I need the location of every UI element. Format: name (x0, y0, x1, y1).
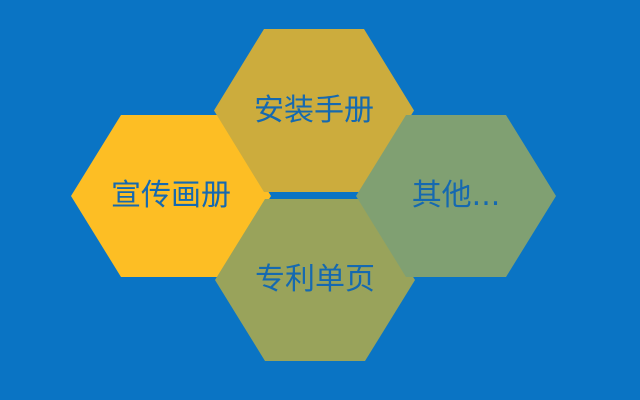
hexagon-label-zhuanli-danye: 专利单页 (255, 265, 375, 295)
hexagon-diagram-canvas: 宣传画册 安装手册 专利单页 其他... (0, 0, 640, 400)
hexagon-label-anzhuang-shouce: 安装手册 (254, 96, 374, 126)
hexagon-label-qita: 其他... (412, 181, 501, 211)
hexagon-label-xuanchuan-huace: 宣传画册 (111, 181, 231, 211)
